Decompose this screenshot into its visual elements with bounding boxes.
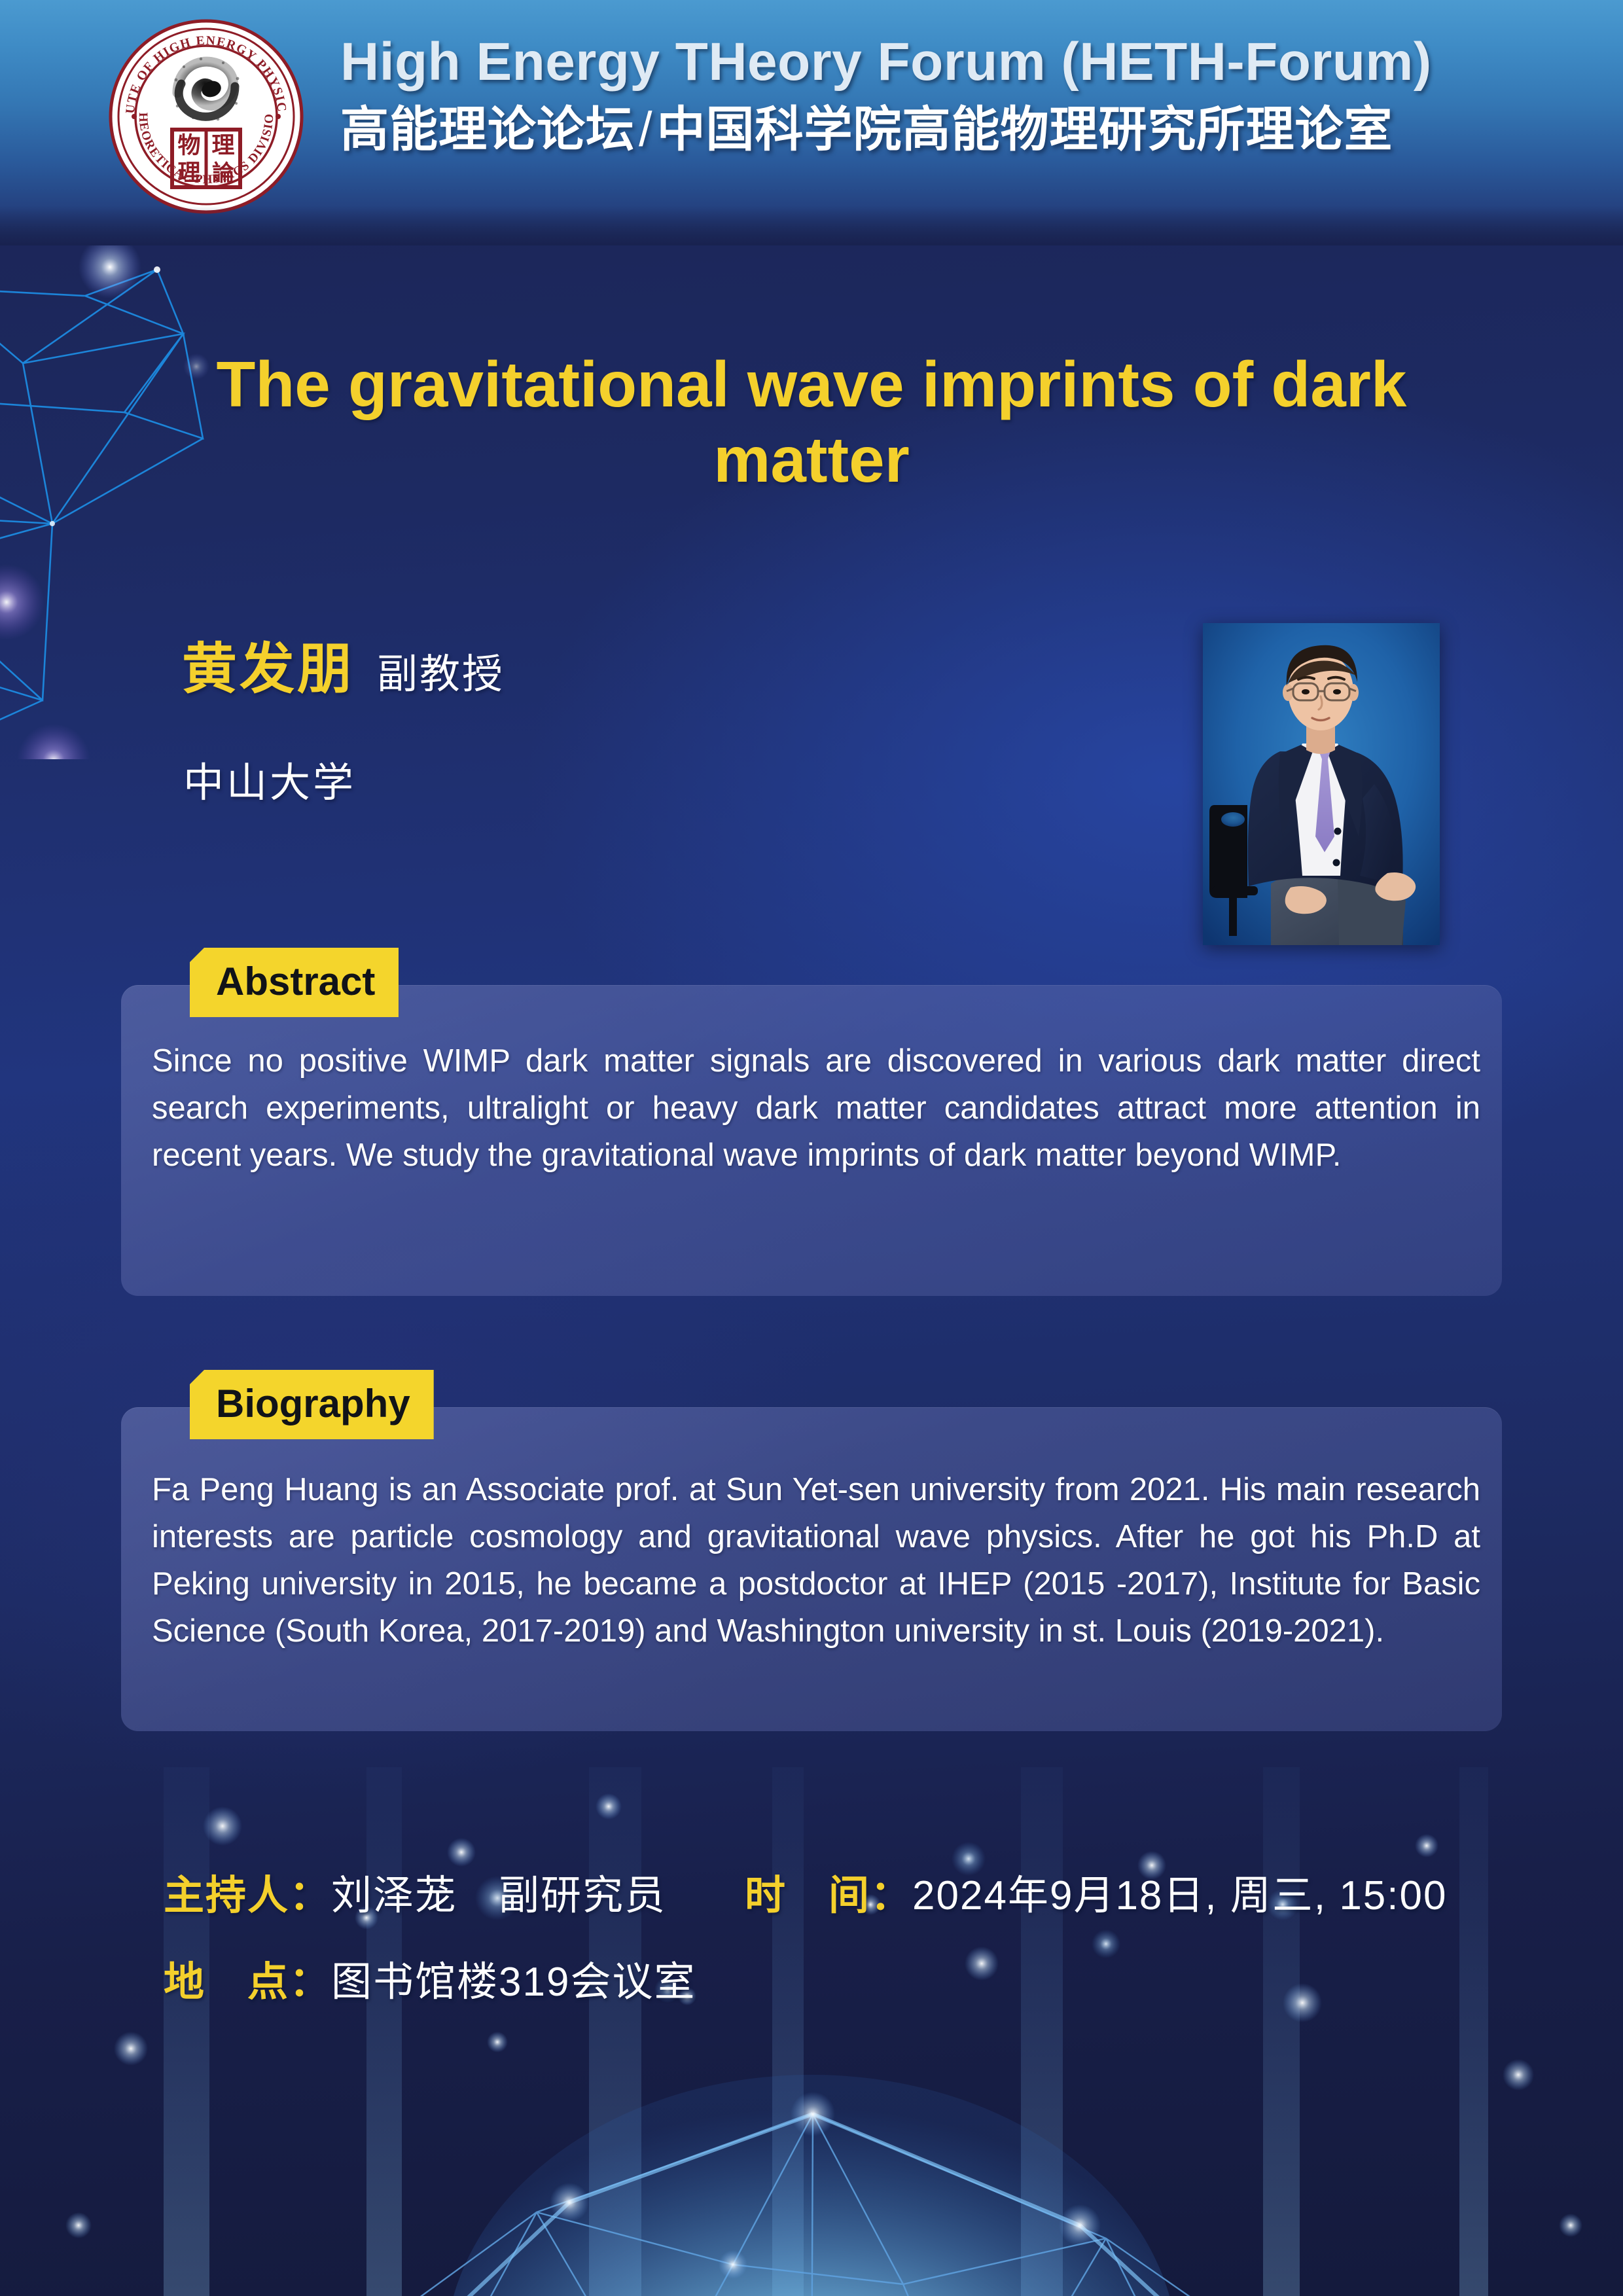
time-value: 2024年9月18日, 周三, 15:00 — [912, 1862, 1447, 1921]
svg-text:物: 物 — [177, 133, 200, 159]
time-label: 时 间： — [745, 1862, 912, 1921]
forum-title-en: High Energy THeory Forum (HETH-Forum) — [340, 34, 1432, 91]
speaker-block: 黄发朋 副教授 — [182, 625, 505, 704]
header-title-block: High Energy THeory Forum (HETH-Forum) 高能… — [340, 34, 1432, 157]
speaker-rank: 副教授 — [377, 641, 505, 700]
poster-root: INSTITUTE OF HIGH ENERGY PHYSICS · CAS T… — [0, 0, 1623, 2296]
host-value: 刘泽茏 副研究员 — [331, 1862, 666, 1921]
abstract-badge: Abstract — [190, 948, 399, 1017]
forum-title-cn-sub: 中国科学院高能物理研究所理论室 — [657, 102, 1393, 156]
speaker-name: 黄发朋 — [182, 625, 355, 704]
info-row-place: 地 点： 图书馆楼319会议室 — [164, 1948, 1505, 2007]
place-label: 地 点： — [164, 1948, 331, 2007]
talk-title: The gravitational wave imprints of dark … — [177, 347, 1446, 497]
speaker-portrait-illustration — [1203, 623, 1440, 945]
biography-text: Fa Peng Huang is an Associate prof. at S… — [152, 1466, 1480, 1655]
event-info: 主持人： 刘泽茏 副研究员 时 间： 2024年9月18日, 周三, 15:00… — [164, 1862, 1505, 2035]
speaker-photo — [1203, 623, 1440, 945]
biography-badge: Biography — [190, 1370, 434, 1439]
forum-title-separator: / — [635, 102, 657, 156]
host-label: 主持人： — [164, 1862, 331, 1921]
info-row-host-time: 主持人： 刘泽茏 副研究员 时 间： 2024年9月18日, 周三, 15:00 — [164, 1862, 1505, 1921]
speaker-affiliation: 中山大学 — [183, 749, 356, 808]
place-value: 图书馆楼319会议室 — [331, 1948, 696, 2007]
svg-text:理: 理 — [177, 160, 200, 187]
ihep-seal-icon: INSTITUTE OF HIGH ENERGY PHYSICS · CAS T… — [108, 18, 304, 215]
svg-text:理: 理 — [211, 133, 234, 159]
poster-header: INSTITUTE OF HIGH ENERGY PHYSICS · CAS T… — [0, 0, 1623, 245]
forum-title-cn: 高能理论论坛/中国科学院高能物理研究所理论室 — [340, 103, 1432, 157]
forum-title-cn-main: 高能理论论坛 — [340, 102, 635, 156]
svg-text:論: 論 — [212, 160, 234, 187]
ihep-logo: INSTITUTE OF HIGH ENERGY PHYSICS · CAS T… — [108, 18, 304, 215]
abstract-text: Since no positive WIMP dark matter signa… — [152, 1037, 1480, 1179]
